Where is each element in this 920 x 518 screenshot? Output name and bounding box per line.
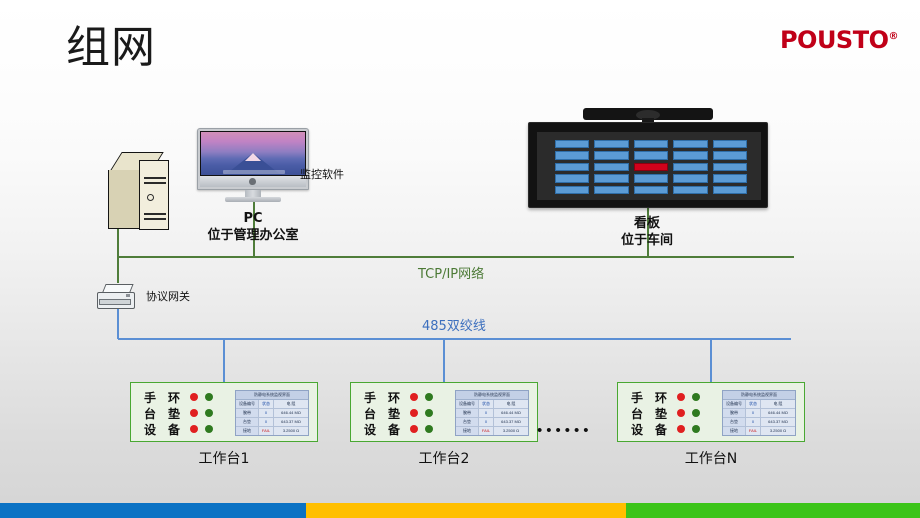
workstation-row-label-left: 手 bbox=[628, 389, 646, 406]
server-power-led-icon bbox=[147, 194, 154, 201]
monitor-table-row: 接地FAIL3.2500 Ω bbox=[236, 427, 308, 435]
workstation-row-label-right: 备 bbox=[165, 421, 183, 438]
workstation-status-row: 设备 bbox=[141, 421, 229, 437]
apple-logo-icon bbox=[249, 178, 256, 185]
gateway-downlink-line bbox=[117, 305, 119, 339]
monitor-table-cell-status: 0 bbox=[746, 418, 761, 426]
workstation-status-row: 台垫 bbox=[628, 405, 716, 421]
server-slot bbox=[144, 213, 166, 215]
kanban-cell bbox=[673, 163, 707, 171]
monitor-table-row: 设备编号状态电 阻 bbox=[456, 400, 528, 409]
kanban-cell bbox=[555, 163, 589, 171]
pc-caption: PC 位于管理办公室 bbox=[173, 210, 333, 244]
kanban-cell bbox=[713, 163, 747, 171]
monitor-table-cell-status: 0 bbox=[746, 409, 761, 417]
tv-screen bbox=[537, 132, 761, 200]
workstation-status-row: 台垫 bbox=[361, 405, 449, 421]
desktop-dock bbox=[223, 170, 285, 174]
gateway-tray bbox=[99, 299, 131, 305]
monitor-table-cell-device: 接地 bbox=[723, 427, 746, 435]
kanban-cell bbox=[713, 140, 747, 148]
server-slot bbox=[144, 182, 166, 184]
monitor-table-cell-value: 3.2500 Ω bbox=[274, 427, 308, 435]
monitor-table-cell-device: 设备编号 bbox=[723, 400, 746, 408]
workstation-panel[interactable]: 手环台垫设备防静电系统监视界面设备编号状态电 阻腕带0646.44 MΩ台垫06… bbox=[350, 382, 538, 442]
monitor-table-cell-status: 0 bbox=[479, 409, 494, 417]
workstation-row-label-left: 台 bbox=[361, 405, 379, 422]
registered-trademark-icon: ® bbox=[889, 31, 899, 42]
monitor-table-cell-status: FAIL bbox=[479, 427, 494, 435]
workstation-status-row: 设备 bbox=[628, 421, 716, 437]
monitor-table-cell-device: 设备编号 bbox=[236, 400, 259, 408]
imac-monitor-icon bbox=[197, 128, 309, 204]
monitor-table-row: 设备编号状态电 阻 bbox=[236, 400, 308, 409]
kanban-display-icon bbox=[528, 108, 768, 208]
workstation-label: 工作台2 bbox=[350, 448, 538, 468]
workstation-panel[interactable]: 手环台垫设备防静电系统监视界面设备编号状态电 阻腕带0646.44 MΩ台垫06… bbox=[130, 382, 318, 442]
kanban-caption: 看板 位于车间 bbox=[567, 215, 727, 249]
tcpip-network-label: TCP/IP网络 bbox=[418, 263, 484, 282]
monitor-table-row: 台垫0643.37 MΩ bbox=[723, 418, 795, 427]
gateway-label: 协议网关 bbox=[146, 288, 190, 304]
workstation-row-label-right: 环 bbox=[385, 389, 403, 406]
brand-logo-text: POUSTO bbox=[780, 26, 889, 54]
workstation-row-label-right: 备 bbox=[385, 421, 403, 438]
pc-caption-title: PC bbox=[173, 210, 333, 227]
kanban-cell bbox=[594, 163, 628, 171]
server-tower-icon bbox=[108, 152, 168, 234]
status-dot-green-icon bbox=[425, 409, 433, 417]
kanban-cell-alert bbox=[634, 163, 668, 171]
workstationN-drop-line bbox=[710, 338, 712, 382]
workstation-status-row: 手环 bbox=[141, 389, 229, 405]
status-dot-green-icon bbox=[205, 409, 213, 417]
workstation-monitor-table[interactable]: 防静电系统监视界面设备编号状态电 阻腕带0646.44 MΩ台垫0643.37 … bbox=[235, 390, 309, 436]
mountain-snowcap-shape bbox=[245, 153, 261, 161]
workstation-row-label-right: 备 bbox=[652, 421, 670, 438]
protocol-gateway-icon bbox=[95, 283, 141, 309]
workstation-row-label-left: 手 bbox=[361, 389, 379, 406]
status-dot-red-icon bbox=[190, 393, 198, 401]
monitor-table-header: 防静电系统监视界面 bbox=[456, 391, 528, 400]
kanban-cell bbox=[673, 186, 707, 194]
status-dot-green-icon bbox=[692, 425, 700, 433]
kanban-status-grid bbox=[555, 140, 747, 194]
status-dot-red-icon bbox=[190, 425, 198, 433]
monitor-table-cell-value: 电 阻 bbox=[761, 400, 795, 408]
workstation-row-label-right: 垫 bbox=[165, 405, 183, 422]
monitor-table-row: 腕带0646.44 MΩ bbox=[236, 409, 308, 418]
status-dot-green-icon bbox=[205, 425, 213, 433]
monitor-table-cell-device: 台垫 bbox=[456, 418, 479, 426]
workstation-status-row: 台垫 bbox=[141, 405, 229, 421]
kanban-caption-title: 看板 bbox=[567, 215, 727, 232]
workstation-monitor-table[interactable]: 防静电系统监视界面设备编号状态电 阻腕带0646.44 MΩ台垫0643.37 … bbox=[722, 390, 796, 436]
status-dot-red-icon bbox=[677, 393, 685, 401]
rs485-bus-line bbox=[118, 338, 791, 340]
status-dot-red-icon bbox=[410, 393, 418, 401]
workstation-label: 工作台1 bbox=[130, 448, 318, 468]
monitor-table-cell-device: 设备编号 bbox=[456, 400, 479, 408]
monitor-table-row: 接地FAIL3.2500 Ω bbox=[723, 427, 795, 435]
rs485-network-label: 485双绞线 bbox=[422, 315, 486, 334]
monitor-table-cell-value: 643.37 MΩ bbox=[274, 418, 308, 426]
workstation-monitor-table[interactable]: 防静电系统监视界面设备编号状态电 阻腕带0646.44 MΩ台垫0643.37 … bbox=[455, 390, 529, 436]
gateway-button-icon bbox=[126, 294, 130, 297]
kanban-cell bbox=[555, 174, 589, 182]
workstation2-drop-line bbox=[443, 338, 445, 382]
monitor-table-cell-device: 台垫 bbox=[723, 418, 746, 426]
footer-segment-green bbox=[626, 503, 920, 518]
monitor-screen-wallpaper bbox=[201, 132, 305, 175]
workstation-status-rows: 手环台垫设备 bbox=[628, 389, 716, 437]
footer-color-bar bbox=[0, 503, 920, 518]
workstation1-drop-line bbox=[223, 338, 225, 382]
kanban-cell bbox=[634, 186, 668, 194]
monitor-table-cell-status: 状态 bbox=[259, 400, 274, 408]
monitor-table-cell-device: 腕带 bbox=[456, 409, 479, 417]
status-dot-red-icon bbox=[410, 409, 418, 417]
brand-logo: POUSTO® bbox=[780, 26, 898, 54]
monitor-table-cell-status: 0 bbox=[479, 418, 494, 426]
workstation-label: 工作台N bbox=[617, 448, 805, 468]
kanban-cell bbox=[555, 151, 589, 159]
kanban-cell bbox=[634, 140, 668, 148]
workstation-status-row: 手环 bbox=[361, 389, 449, 405]
monitor-table-cell-status: 0 bbox=[259, 418, 274, 426]
monitor-table-row: 接地FAIL3.2500 Ω bbox=[456, 427, 528, 435]
monitor-table-cell-status: FAIL bbox=[746, 427, 761, 435]
monitor-table-cell-value: 电 阻 bbox=[494, 400, 528, 408]
status-dot-green-icon bbox=[425, 393, 433, 401]
workstation-row-label-left: 台 bbox=[141, 405, 159, 422]
continuation-ellipsis: •••••• bbox=[537, 424, 593, 438]
status-dot-red-icon bbox=[190, 409, 198, 417]
monitor-stand-foot bbox=[225, 197, 281, 202]
monitor-table-cell-status: 状态 bbox=[746, 400, 761, 408]
monitor-table-cell-value: 643.37 MΩ bbox=[761, 418, 795, 426]
kanban-cell bbox=[634, 151, 668, 159]
footer-segment-blue bbox=[0, 503, 306, 518]
kanban-cell bbox=[673, 151, 707, 159]
pc-caption-sub: 位于管理办公室 bbox=[173, 227, 333, 244]
monitor-table-header: 防静电系统监视界面 bbox=[723, 391, 795, 400]
status-dot-green-icon bbox=[692, 409, 700, 417]
server-slot bbox=[144, 177, 166, 179]
status-dot-green-icon bbox=[692, 393, 700, 401]
monitor-table-row: 腕带0646.44 MΩ bbox=[456, 409, 528, 418]
monitor-table-cell-value: 646.44 MΩ bbox=[494, 409, 528, 417]
monitor-table-cell-status: 0 bbox=[259, 409, 274, 417]
kanban-caption-sub: 位于车间 bbox=[567, 232, 727, 249]
monitor-table-cell-status: FAIL bbox=[259, 427, 274, 435]
server-slot bbox=[144, 218, 166, 220]
gateway-uplink-line bbox=[117, 256, 119, 283]
workstation-status-rows: 手环台垫设备 bbox=[361, 389, 449, 437]
monitor-table-row: 台垫0643.37 MΩ bbox=[236, 418, 308, 427]
workstation-status-row: 设备 bbox=[361, 421, 449, 437]
workstation-row-label-left: 手 bbox=[141, 389, 159, 406]
monitor-table-cell-status: 状态 bbox=[479, 400, 494, 408]
monitor-table-cell-value: 电 阻 bbox=[274, 400, 308, 408]
monitor-table-cell-device: 接地 bbox=[236, 427, 259, 435]
monitor-table-cell-device: 台垫 bbox=[236, 418, 259, 426]
status-dot-red-icon bbox=[677, 425, 685, 433]
workstation-row-label-right: 环 bbox=[652, 389, 670, 406]
tv-body bbox=[528, 122, 768, 208]
server-side-face bbox=[108, 170, 142, 229]
monitor-table-cell-value: 3.2500 Ω bbox=[494, 427, 528, 435]
kanban-cell bbox=[594, 151, 628, 159]
monitor-table-row: 台垫0643.37 MΩ bbox=[456, 418, 528, 427]
kanban-cell bbox=[634, 174, 668, 182]
status-dot-red-icon bbox=[410, 425, 418, 433]
workstation-panel[interactable]: 手环台垫设备防静电系统监视界面设备编号状态电 阻腕带0646.44 MΩ台垫06… bbox=[617, 382, 805, 442]
workstation-row-label-left: 设 bbox=[628, 421, 646, 438]
workstation-row-label-left: 设 bbox=[361, 421, 379, 438]
monitor-frame bbox=[200, 131, 306, 176]
monitor-table-cell-value: 646.44 MΩ bbox=[761, 409, 795, 417]
workstation-row-label-right: 垫 bbox=[652, 405, 670, 422]
server-front-face bbox=[139, 160, 169, 230]
monitor-table-cell-value: 3.2500 Ω bbox=[761, 427, 795, 435]
monitor-table-row: 设备编号状态电 阻 bbox=[723, 400, 795, 409]
kanban-cell bbox=[555, 140, 589, 148]
monitor-table-cell-device: 腕带 bbox=[723, 409, 746, 417]
page-title: 组网 bbox=[66, 22, 156, 74]
workstation-row-label-left: 设 bbox=[141, 421, 159, 438]
workstation-status-row: 手环 bbox=[628, 389, 716, 405]
monitor-table-cell-device: 接地 bbox=[456, 427, 479, 435]
kanban-cell bbox=[673, 174, 707, 182]
workstation-row-label-right: 环 bbox=[165, 389, 183, 406]
kanban-cell bbox=[713, 174, 747, 182]
kanban-cell bbox=[594, 140, 628, 148]
footer-segment-yellow bbox=[306, 503, 626, 518]
slide-canvas: 组网 POUSTO® TCP/IP网络 485双绞线 bbox=[0, 0, 920, 518]
monitor-table-cell-value: 646.44 MΩ bbox=[274, 409, 308, 417]
kanban-cell bbox=[594, 186, 628, 194]
monitoring-software-label: 监控软件 bbox=[300, 166, 344, 182]
status-dot-green-icon bbox=[425, 425, 433, 433]
monitor-table-row: 腕带0646.44 MΩ bbox=[723, 409, 795, 418]
monitor-table-header: 防静电系统监视界面 bbox=[236, 391, 308, 400]
kanban-cell bbox=[673, 140, 707, 148]
kanban-cell bbox=[713, 151, 747, 159]
status-dot-red-icon bbox=[677, 409, 685, 417]
kanban-cell bbox=[713, 186, 747, 194]
status-dot-green-icon bbox=[205, 393, 213, 401]
tcpip-bus-line bbox=[118, 256, 794, 258]
workstation-row-label-left: 台 bbox=[628, 405, 646, 422]
monitor-table-cell-device: 腕带 bbox=[236, 409, 259, 417]
kanban-cell bbox=[555, 186, 589, 194]
workstation-status-rows: 手环台垫设备 bbox=[141, 389, 229, 437]
monitor-table-cell-value: 643.37 MΩ bbox=[494, 418, 528, 426]
kanban-cell bbox=[594, 174, 628, 182]
workstation-row-label-right: 垫 bbox=[385, 405, 403, 422]
